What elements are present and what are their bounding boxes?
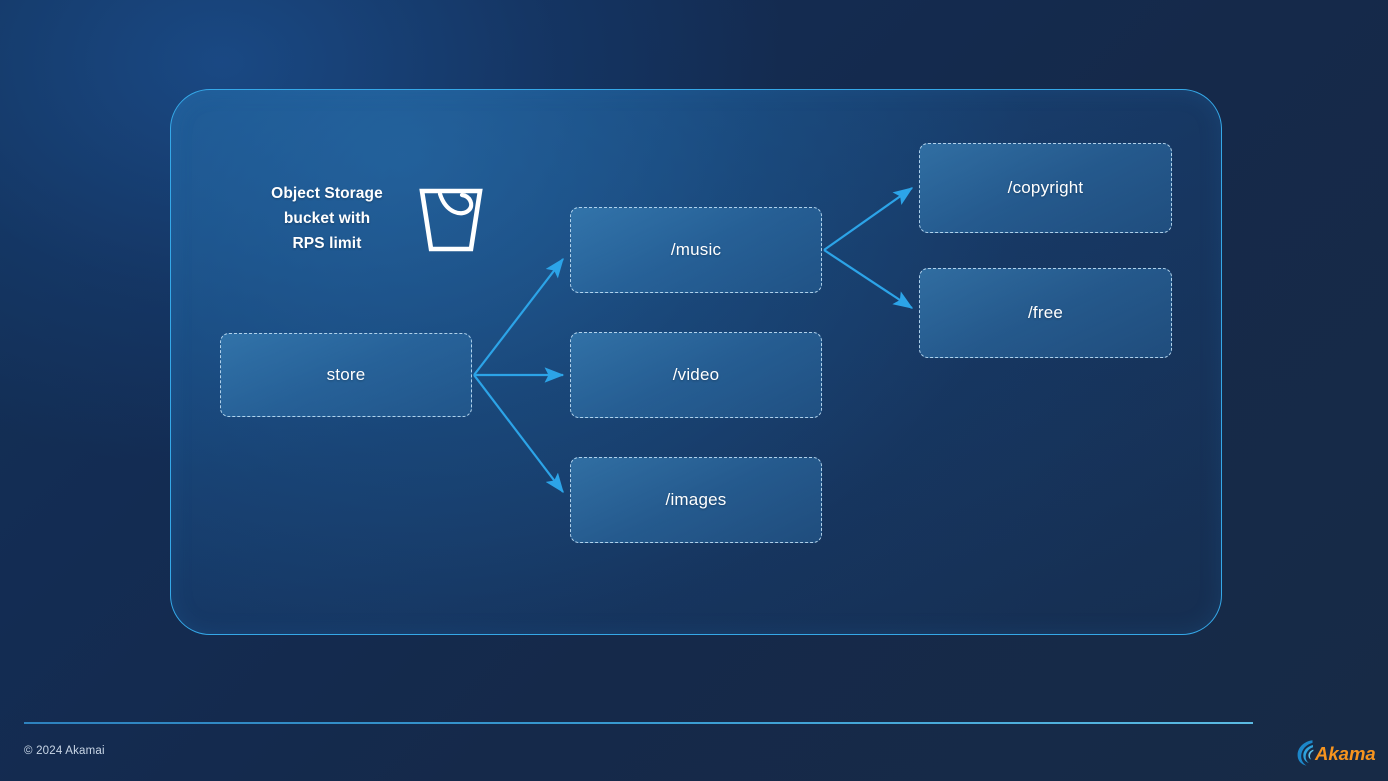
- bucket-caption: Object Storage bucket with RPS limit: [247, 181, 407, 256]
- node-images[interactable]: /images: [570, 457, 822, 543]
- node-video-label: /video: [673, 365, 720, 385]
- bucket-icon: [416, 183, 486, 255]
- node-music-label: /music: [671, 240, 721, 260]
- node-music[interactable]: /music: [570, 207, 822, 293]
- node-copyright-label: /copyright: [1008, 178, 1084, 198]
- akamai-logo-text: Akamai: [1314, 743, 1376, 764]
- node-store[interactable]: store: [220, 333, 472, 417]
- node-images-label: /images: [666, 490, 727, 510]
- node-store-label: store: [327, 365, 366, 385]
- node-free[interactable]: /free: [919, 268, 1172, 358]
- caption-line-2: bucket with: [247, 206, 407, 231]
- footer-divider: [24, 722, 1253, 724]
- caption-line-1: Object Storage: [247, 181, 407, 206]
- akamai-logo: Akamai: [1292, 736, 1376, 768]
- node-free-label: /free: [1028, 303, 1063, 323]
- footer-copyright: © 2024 Akamai: [24, 745, 105, 757]
- node-copyright[interactable]: /copyright: [919, 143, 1172, 233]
- caption-line-3: RPS limit: [247, 231, 407, 256]
- node-video[interactable]: /video: [570, 332, 822, 418]
- slide-canvas: Object Storage bucket with RPS limit sto…: [0, 0, 1388, 781]
